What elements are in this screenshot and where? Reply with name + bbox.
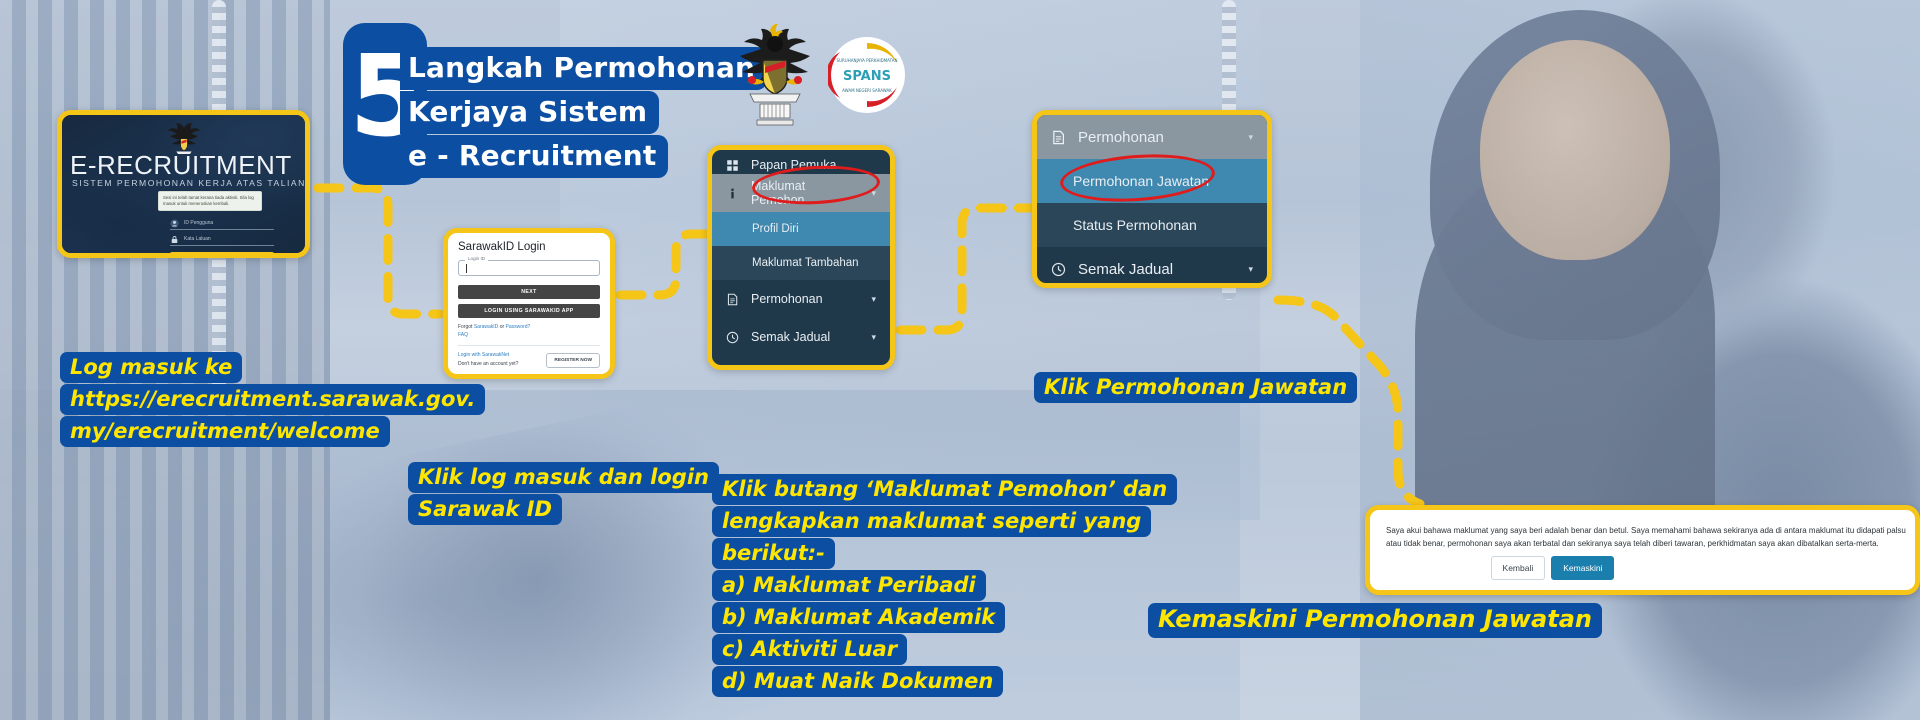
chevron-down-icon: ▾ bbox=[871, 332, 876, 343]
menu-label: Permohonan bbox=[1078, 129, 1164, 146]
infographic-canvas: 5 Langkah Permohonan Kerjaya Sistem e - … bbox=[0, 0, 1920, 720]
caption-line: Klik butang ‘Maklumat Pemohon’ dan bbox=[712, 474, 1177, 505]
headline-line-3: e - Recruitment bbox=[400, 135, 668, 178]
chevron-down-icon: ▾ bbox=[1248, 132, 1253, 143]
menu-label: Status Permohonan bbox=[1073, 217, 1197, 233]
erecruitment-login-screenshot[interactable]: E-RECRUITMENT SISTEM PERMOHONAN KERJA AT… bbox=[57, 110, 310, 258]
chevron-down-icon: ▾ bbox=[871, 294, 876, 305]
menu-item-maklumat-pemohon[interactable]: Maklumat Pemohon ▾ bbox=[712, 174, 890, 212]
sarawakid-login-id-label: Login ID bbox=[465, 256, 488, 261]
document-icon bbox=[1051, 130, 1066, 145]
menu-label: Maklumat Tambahan bbox=[752, 257, 859, 269]
erecruitment-title: E-RECRUITMENT bbox=[70, 152, 292, 178]
menu-label: Permohonan bbox=[751, 292, 823, 306]
dialog-button-row: Kembali Kemaskini bbox=[1370, 556, 1915, 580]
spans-logo-icon: SPANS SURUHANJAYA PERKHIDMATAN AWAM NEGE… bbox=[828, 36, 906, 114]
caption-step-1: Log masuk ke https://erecruitment.sarawa… bbox=[60, 352, 485, 448]
clock-icon bbox=[726, 331, 739, 344]
caption-line: Kemaskini Permohonan Jawatan bbox=[1148, 603, 1602, 638]
clock-icon bbox=[1051, 262, 1066, 277]
caption-step-3: Klik butang ‘Maklumat Pemohon’ dan lengk… bbox=[712, 474, 1177, 698]
lock-icon bbox=[170, 235, 179, 244]
user-icon bbox=[170, 219, 179, 228]
caption-line: Klik Permohonan Jawatan bbox=[1034, 372, 1357, 403]
forgot-prefix: Forgot bbox=[458, 324, 472, 330]
caption-step-2: Klik log masuk dan login Sarawak ID bbox=[408, 462, 719, 526]
register-now-button[interactable]: REGISTER NOW bbox=[546, 353, 600, 368]
erecruitment-username-placeholder: ID Pengguna bbox=[184, 220, 213, 226]
caption-line: my/erecruitment/welcome bbox=[60, 416, 390, 447]
menu-label: Profil Diri bbox=[752, 223, 799, 235]
erecruitment-session-alert: Sesi ini telah tamat kerana tiada aktivi… bbox=[158, 191, 262, 211]
menu-item-semak-jadual[interactable]: Semak Jadual ▾ bbox=[712, 318, 890, 356]
erecruitment-subtitle: SISTEM PERMOHONAN KERJA ATAS TALIAN bbox=[72, 178, 306, 188]
info-icon bbox=[726, 187, 739, 200]
headline-lines: Langkah Permohonan Kerjaya Sistem e - Re… bbox=[400, 47, 767, 179]
headline-line-2: Kerjaya Sistem bbox=[400, 91, 659, 134]
sarawakid-login-id-input[interactable]: Login ID bbox=[458, 260, 600, 276]
menu-item-profil-diri[interactable]: Profil Diri bbox=[712, 212, 890, 246]
chevron-down-icon: ▾ bbox=[871, 188, 876, 199]
forgot-sarawakid-link[interactable]: SarawakID bbox=[474, 324, 498, 330]
sarawakid-title: SarawakID Login bbox=[458, 241, 600, 253]
caption-line: b) Maklumat Akademik bbox=[712, 602, 1005, 633]
caption-line: https://erecruitment.sarawak.gov. bbox=[60, 384, 485, 415]
erecruitment-password-field[interactable]: Kata Laluan bbox=[170, 233, 274, 246]
permohonan-menu-panel[interactable]: Permohonan ▾ Permohonan Jawatan Status P… bbox=[1032, 110, 1272, 288]
dialog-update-button[interactable]: Kemaskini bbox=[1551, 556, 1614, 580]
divider bbox=[458, 345, 600, 346]
menu-item-maklumat-tambahan[interactable]: Maklumat Tambahan bbox=[712, 246, 890, 280]
forgot-or: or bbox=[500, 324, 504, 330]
caption-line: d) Muat Naik Dokumen bbox=[712, 666, 1003, 697]
erecruitment-password-placeholder: Kata Laluan bbox=[184, 236, 211, 242]
dialog-back-button[interactable]: Kembali bbox=[1491, 556, 1546, 580]
menu-item-status-permohonan[interactable]: Status Permohonan bbox=[1037, 203, 1267, 247]
menu-item-permohonan-jawatan[interactable]: Permohonan Jawatan bbox=[1037, 159, 1267, 203]
caption-step-4: Klik Permohonan Jawatan bbox=[1034, 372, 1357, 404]
menu-item-permohonan[interactable]: Permohonan ▾ bbox=[712, 280, 890, 318]
caption-line: c) Aktiviti Luar bbox=[712, 634, 907, 665]
caption-line: lengkapkan maklumat seperti yang bbox=[712, 506, 1151, 537]
sarawakid-next-button[interactable]: NEXT bbox=[458, 285, 600, 299]
headline-line-1: Langkah Permohonan bbox=[400, 47, 767, 90]
sarawak-state-crest-icon bbox=[730, 20, 820, 130]
forgot-password-link[interactable]: Password? bbox=[506, 324, 531, 330]
erecruitment-username-field[interactable]: ID Pengguna bbox=[170, 217, 274, 230]
chevron-down-icon: ▾ bbox=[1248, 264, 1253, 275]
text-cursor-icon bbox=[466, 264, 467, 273]
confirmation-dialog[interactable]: Saya akui bahawa maklumat yang saya beri… bbox=[1365, 505, 1920, 595]
erecruitment-crest-icon bbox=[167, 120, 201, 154]
menu-label: Semak Jadual bbox=[751, 330, 830, 344]
svg-text:AWAM NEGERI SARAWAK: AWAM NEGERI SARAWAK bbox=[842, 88, 892, 93]
caption-line: Klik log masuk dan login bbox=[408, 462, 719, 493]
erecruitment-login-button[interactable]: Log Masuk bbox=[170, 252, 274, 258]
menu-label: Semak Jadual bbox=[1078, 261, 1173, 278]
caption-line: a) Maklumat Peribadi bbox=[712, 570, 986, 601]
svg-text:SURUHANJAYA PERKHIDMATAN: SURUHANJAYA PERKHIDMATAN bbox=[837, 58, 898, 63]
dialog-declaration-text: Saya akui bahawa maklumat yang saya beri… bbox=[1386, 524, 1907, 550]
sarawakid-app-login-button[interactable]: LOGIN USING SARAWAKID APP bbox=[458, 304, 600, 318]
caption-line: Sarawak ID bbox=[408, 494, 562, 525]
caption-step-5: Kemaskini Permohonan Jawatan bbox=[1148, 603, 1602, 639]
document-icon bbox=[726, 293, 739, 306]
faq-link[interactable]: FAQ bbox=[458, 332, 468, 338]
menu-label: Maklumat Pemohon bbox=[751, 179, 859, 207]
menu-label: Permohonan Jawatan bbox=[1073, 173, 1209, 189]
sarawakid-help-links: Forgot SarawakID or Password? FAQ bbox=[458, 323, 600, 339]
menu-item-semak-jadual[interactable]: Semak Jadual ▾ bbox=[1037, 247, 1267, 288]
menu-item-permohonan[interactable]: Permohonan ▾ bbox=[1037, 115, 1267, 159]
svg-text:SPANS: SPANS bbox=[843, 69, 891, 84]
caption-line: Log masuk ke bbox=[60, 352, 242, 383]
caption-line: berikut:- bbox=[712, 538, 835, 569]
